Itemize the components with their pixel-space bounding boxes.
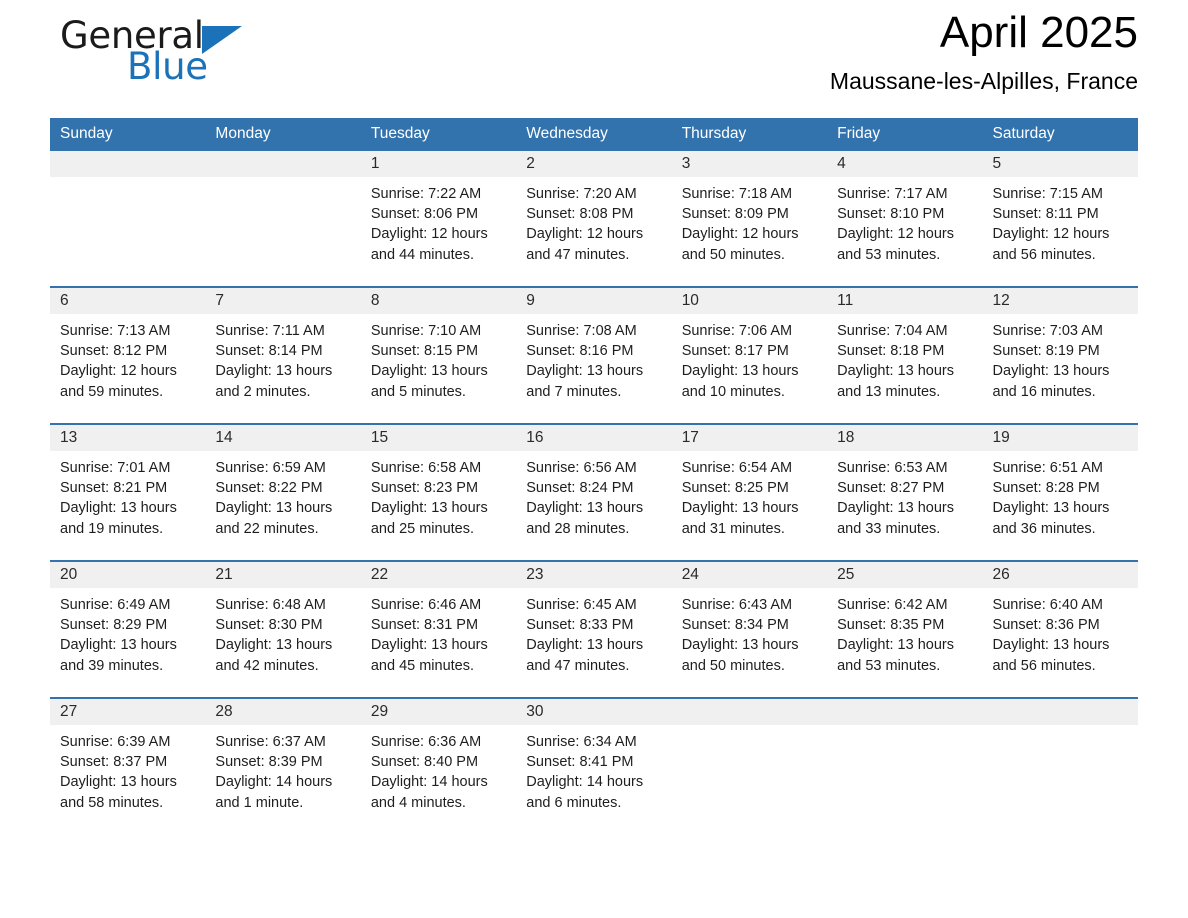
sunrise-text: Sunrise: 6:40 AM xyxy=(993,595,1130,615)
day-cell-content: 6Sunrise: 7:13 AMSunset: 8:12 PMDaylight… xyxy=(50,288,205,423)
calendar-day-cell[interactable]: 29Sunrise: 6:36 AMSunset: 8:40 PMDayligh… xyxy=(361,698,516,834)
logo-text-blue: Blue xyxy=(127,47,208,87)
calendar-day-cell[interactable]: 17Sunrise: 6:54 AMSunset: 8:25 PMDayligh… xyxy=(672,424,827,561)
day-cell-content: 8Sunrise: 7:10 AMSunset: 8:15 PMDaylight… xyxy=(361,288,516,423)
day-cell-content: 26Sunrise: 6:40 AMSunset: 8:36 PMDayligh… xyxy=(983,562,1138,697)
day-number: 26 xyxy=(983,562,1138,588)
sunset-text: Sunset: 8:25 PM xyxy=(682,478,819,498)
day-cell-content: 19Sunrise: 6:51 AMSunset: 8:28 PMDayligh… xyxy=(983,425,1138,560)
daylight-text: Daylight: 14 hours and 1 minute. xyxy=(215,772,352,812)
day-details: Sunrise: 6:34 AMSunset: 8:41 PMDaylight:… xyxy=(516,725,671,813)
day-details: Sunrise: 7:18 AMSunset: 8:09 PMDaylight:… xyxy=(672,177,827,265)
day-cell-content: 17Sunrise: 6:54 AMSunset: 8:25 PMDayligh… xyxy=(672,425,827,560)
calendar-week-row: 1Sunrise: 7:22 AMSunset: 8:06 PMDaylight… xyxy=(50,151,1138,287)
day-details: Sunrise: 6:42 AMSunset: 8:35 PMDaylight:… xyxy=(827,588,982,676)
daylight-text: Daylight: 13 hours and 56 minutes. xyxy=(993,635,1130,675)
sunrise-text: Sunrise: 6:46 AM xyxy=(371,595,508,615)
day-details: Sunrise: 6:59 AMSunset: 8:22 PMDaylight:… xyxy=(205,451,360,539)
sunset-text: Sunset: 8:30 PM xyxy=(215,615,352,635)
calendar-day-cell[interactable]: 19Sunrise: 6:51 AMSunset: 8:28 PMDayligh… xyxy=(983,424,1138,561)
day-cell-content: 7Sunrise: 7:11 AMSunset: 8:14 PMDaylight… xyxy=(205,288,360,423)
sunset-text: Sunset: 8:33 PM xyxy=(526,615,663,635)
daylight-text: Daylight: 13 hours and 28 minutes. xyxy=(526,498,663,538)
sunrise-text: Sunrise: 6:48 AM xyxy=(215,595,352,615)
daylight-text: Daylight: 13 hours and 2 minutes. xyxy=(215,361,352,401)
calendar-day-cell[interactable]: 20Sunrise: 6:49 AMSunset: 8:29 PMDayligh… xyxy=(50,561,205,698)
day-details: Sunrise: 7:20 AMSunset: 8:08 PMDaylight:… xyxy=(516,177,671,265)
day-number: 18 xyxy=(827,425,982,451)
calendar-day-cell[interactable]: 7Sunrise: 7:11 AMSunset: 8:14 PMDaylight… xyxy=(205,287,360,424)
sunrise-sunset-calendar: Sunday Monday Tuesday Wednesday Thursday… xyxy=(50,118,1138,834)
daylight-text: Daylight: 13 hours and 16 minutes. xyxy=(993,361,1130,401)
sunrise-text: Sunrise: 7:04 AM xyxy=(837,321,974,341)
day-cell-content xyxy=(983,699,1138,834)
sunset-text: Sunset: 8:39 PM xyxy=(215,752,352,772)
daylight-text: Daylight: 13 hours and 19 minutes. xyxy=(60,498,197,538)
sunrise-text: Sunrise: 6:58 AM xyxy=(371,458,508,478)
sunrise-text: Sunrise: 6:59 AM xyxy=(215,458,352,478)
day-cell-content: 16Sunrise: 6:56 AMSunset: 8:24 PMDayligh… xyxy=(516,425,671,560)
weekday-header-sunday: Sunday xyxy=(50,118,205,151)
title-block: April 2025 Maussane-les-Alpilles, France xyxy=(830,0,1138,96)
daylight-text: Daylight: 13 hours and 39 minutes. xyxy=(60,635,197,675)
day-details: Sunrise: 7:22 AMSunset: 8:06 PMDaylight:… xyxy=(361,177,516,265)
page-header: General Blue April 2025 Maussane-les-Alp… xyxy=(50,0,1138,110)
sunset-text: Sunset: 8:10 PM xyxy=(837,204,974,224)
day-details: Sunrise: 6:48 AMSunset: 8:30 PMDaylight:… xyxy=(205,588,360,676)
logo-triangle-icon xyxy=(202,26,242,54)
day-details: Sunrise: 6:53 AMSunset: 8:27 PMDaylight:… xyxy=(827,451,982,539)
day-number: 28 xyxy=(205,699,360,725)
calendar-day-cell[interactable]: 12Sunrise: 7:03 AMSunset: 8:19 PMDayligh… xyxy=(983,287,1138,424)
calendar-day-cell xyxy=(50,151,205,287)
day-details: Sunrise: 7:11 AMSunset: 8:14 PMDaylight:… xyxy=(205,314,360,402)
day-details: Sunrise: 6:45 AMSunset: 8:33 PMDaylight:… xyxy=(516,588,671,676)
day-cell-content: 10Sunrise: 7:06 AMSunset: 8:17 PMDayligh… xyxy=(672,288,827,423)
calendar-week-row: 6Sunrise: 7:13 AMSunset: 8:12 PMDaylight… xyxy=(50,287,1138,424)
sunset-text: Sunset: 8:06 PM xyxy=(371,204,508,224)
day-details: Sunrise: 6:46 AMSunset: 8:31 PMDaylight:… xyxy=(361,588,516,676)
day-cell-content: 15Sunrise: 6:58 AMSunset: 8:23 PMDayligh… xyxy=(361,425,516,560)
day-details: Sunrise: 6:56 AMSunset: 8:24 PMDaylight:… xyxy=(516,451,671,539)
calendar-day-cell[interactable]: 21Sunrise: 6:48 AMSunset: 8:30 PMDayligh… xyxy=(205,561,360,698)
day-cell-content: 24Sunrise: 6:43 AMSunset: 8:34 PMDayligh… xyxy=(672,562,827,697)
day-details: Sunrise: 7:10 AMSunset: 8:15 PMDaylight:… xyxy=(361,314,516,402)
day-number: 16 xyxy=(516,425,671,451)
day-number xyxy=(827,699,982,725)
daylight-text: Daylight: 13 hours and 31 minutes. xyxy=(682,498,819,538)
sunset-text: Sunset: 8:40 PM xyxy=(371,752,508,772)
day-number xyxy=(205,151,360,177)
weekday-header-saturday: Saturday xyxy=(983,118,1138,151)
calendar-day-cell xyxy=(672,698,827,834)
sunrise-text: Sunrise: 7:13 AM xyxy=(60,321,197,341)
general-blue-logo: General Blue xyxy=(50,8,350,94)
daylight-text: Daylight: 13 hours and 10 minutes. xyxy=(682,361,819,401)
day-cell-content: 30Sunrise: 6:34 AMSunset: 8:41 PMDayligh… xyxy=(516,699,671,834)
day-details: Sunrise: 6:54 AMSunset: 8:25 PMDaylight:… xyxy=(672,451,827,539)
weekday-header-monday: Monday xyxy=(205,118,360,151)
day-cell-content: 21Sunrise: 6:48 AMSunset: 8:30 PMDayligh… xyxy=(205,562,360,697)
daylight-text: Daylight: 13 hours and 25 minutes. xyxy=(371,498,508,538)
day-cell-content: 29Sunrise: 6:36 AMSunset: 8:40 PMDayligh… xyxy=(361,699,516,834)
sunrise-text: Sunrise: 6:53 AM xyxy=(837,458,974,478)
day-number: 21 xyxy=(205,562,360,588)
calendar-week-row: 20Sunrise: 6:49 AMSunset: 8:29 PMDayligh… xyxy=(50,561,1138,698)
calendar-day-cell[interactable]: 6Sunrise: 7:13 AMSunset: 8:12 PMDaylight… xyxy=(50,287,205,424)
sunrise-text: Sunrise: 6:54 AM xyxy=(682,458,819,478)
day-number: 13 xyxy=(50,425,205,451)
day-details: Sunrise: 6:37 AMSunset: 8:39 PMDaylight:… xyxy=(205,725,360,813)
page-title: April 2025 xyxy=(830,6,1138,60)
daylight-text: Daylight: 13 hours and 13 minutes. xyxy=(837,361,974,401)
day-cell-content: 3Sunrise: 7:18 AMSunset: 8:09 PMDaylight… xyxy=(672,151,827,286)
day-cell-content xyxy=(827,699,982,834)
day-number: 1 xyxy=(361,151,516,177)
daylight-text: Daylight: 12 hours and 53 minutes. xyxy=(837,224,974,264)
sunset-text: Sunset: 8:16 PM xyxy=(526,341,663,361)
sunset-text: Sunset: 8:27 PM xyxy=(837,478,974,498)
sunrise-text: Sunrise: 7:17 AM xyxy=(837,184,974,204)
day-number xyxy=(983,699,1138,725)
day-number: 19 xyxy=(983,425,1138,451)
day-details: Sunrise: 6:40 AMSunset: 8:36 PMDaylight:… xyxy=(983,588,1138,676)
day-details: Sunrise: 7:06 AMSunset: 8:17 PMDaylight:… xyxy=(672,314,827,402)
sunrise-text: Sunrise: 6:42 AM xyxy=(837,595,974,615)
day-cell-content: 2Sunrise: 7:20 AMSunset: 8:08 PMDaylight… xyxy=(516,151,671,286)
calendar-body: 1Sunrise: 7:22 AMSunset: 8:06 PMDaylight… xyxy=(50,151,1138,834)
sunrise-text: Sunrise: 7:08 AM xyxy=(526,321,663,341)
day-details: Sunrise: 7:08 AMSunset: 8:16 PMDaylight:… xyxy=(516,314,671,402)
sunset-text: Sunset: 8:14 PM xyxy=(215,341,352,361)
calendar-day-cell[interactable]: 26Sunrise: 6:40 AMSunset: 8:36 PMDayligh… xyxy=(983,561,1138,698)
calendar-day-cell[interactable]: 22Sunrise: 6:46 AMSunset: 8:31 PMDayligh… xyxy=(361,561,516,698)
day-cell-content: 11Sunrise: 7:04 AMSunset: 8:18 PMDayligh… xyxy=(827,288,982,423)
day-number: 20 xyxy=(50,562,205,588)
day-cell-content: 4Sunrise: 7:17 AMSunset: 8:10 PMDaylight… xyxy=(827,151,982,286)
calendar-day-cell[interactable]: 30Sunrise: 6:34 AMSunset: 8:41 PMDayligh… xyxy=(516,698,671,834)
weekday-header-tuesday: Tuesday xyxy=(361,118,516,151)
daylight-text: Daylight: 14 hours and 6 minutes. xyxy=(526,772,663,812)
calendar-day-cell[interactable]: 10Sunrise: 7:06 AMSunset: 8:17 PMDayligh… xyxy=(672,287,827,424)
day-cell-content xyxy=(205,151,360,286)
sunset-text: Sunset: 8:11 PM xyxy=(993,204,1130,224)
calendar-day-cell[interactable]: 5Sunrise: 7:15 AMSunset: 8:11 PMDaylight… xyxy=(983,151,1138,287)
day-details: Sunrise: 6:58 AMSunset: 8:23 PMDaylight:… xyxy=(361,451,516,539)
sunset-text: Sunset: 8:08 PM xyxy=(526,204,663,224)
day-number: 4 xyxy=(827,151,982,177)
day-details: Sunrise: 7:04 AMSunset: 8:18 PMDaylight:… xyxy=(827,314,982,402)
sunrise-text: Sunrise: 6:51 AM xyxy=(993,458,1130,478)
day-cell-content: 18Sunrise: 6:53 AMSunset: 8:27 PMDayligh… xyxy=(827,425,982,560)
daylight-text: Daylight: 13 hours and 45 minutes. xyxy=(371,635,508,675)
sunset-text: Sunset: 8:15 PM xyxy=(371,341,508,361)
sunset-text: Sunset: 8:31 PM xyxy=(371,615,508,635)
sunset-text: Sunset: 8:37 PM xyxy=(60,752,197,772)
day-number xyxy=(672,699,827,725)
day-details: Sunrise: 6:36 AMSunset: 8:40 PMDaylight:… xyxy=(361,725,516,813)
sunset-text: Sunset: 8:12 PM xyxy=(60,341,197,361)
sunset-text: Sunset: 8:41 PM xyxy=(526,752,663,772)
daylight-text: Daylight: 12 hours and 56 minutes. xyxy=(993,224,1130,264)
sunset-text: Sunset: 8:24 PM xyxy=(526,478,663,498)
day-cell-content xyxy=(50,151,205,286)
day-details: Sunrise: 7:01 AMSunset: 8:21 PMDaylight:… xyxy=(50,451,205,539)
sunset-text: Sunset: 8:19 PM xyxy=(993,341,1130,361)
day-number: 25 xyxy=(827,562,982,588)
day-number: 5 xyxy=(983,151,1138,177)
sunrise-text: Sunrise: 7:15 AM xyxy=(993,184,1130,204)
calendar-day-cell[interactable]: 25Sunrise: 6:42 AMSunset: 8:35 PMDayligh… xyxy=(827,561,982,698)
day-details: Sunrise: 6:49 AMSunset: 8:29 PMDaylight:… xyxy=(50,588,205,676)
sunrise-text: Sunrise: 7:10 AM xyxy=(371,321,508,341)
day-number: 10 xyxy=(672,288,827,314)
sunrise-text: Sunrise: 7:01 AM xyxy=(60,458,197,478)
day-cell-content: 28Sunrise: 6:37 AMSunset: 8:39 PMDayligh… xyxy=(205,699,360,834)
daylight-text: Daylight: 13 hours and 58 minutes. xyxy=(60,772,197,812)
sunrise-text: Sunrise: 6:37 AM xyxy=(215,732,352,752)
day-cell-content: 22Sunrise: 6:46 AMSunset: 8:31 PMDayligh… xyxy=(361,562,516,697)
daylight-text: Daylight: 13 hours and 33 minutes. xyxy=(837,498,974,538)
day-number: 6 xyxy=(50,288,205,314)
daylight-text: Daylight: 13 hours and 50 minutes. xyxy=(682,635,819,675)
weekday-header-wednesday: Wednesday xyxy=(516,118,671,151)
page-subtitle: Maussane-les-Alpilles, France xyxy=(830,66,1138,96)
calendar-day-cell[interactable]: 1Sunrise: 7:22 AMSunset: 8:06 PMDaylight… xyxy=(361,151,516,287)
day-details: Sunrise: 7:03 AMSunset: 8:19 PMDaylight:… xyxy=(983,314,1138,402)
day-number: 2 xyxy=(516,151,671,177)
daylight-text: Daylight: 13 hours and 47 minutes. xyxy=(526,635,663,675)
day-number: 7 xyxy=(205,288,360,314)
sunrise-text: Sunrise: 6:56 AM xyxy=(526,458,663,478)
day-number: 15 xyxy=(361,425,516,451)
calendar-day-cell[interactable]: 9Sunrise: 7:08 AMSunset: 8:16 PMDaylight… xyxy=(516,287,671,424)
day-details: Sunrise: 6:51 AMSunset: 8:28 PMDaylight:… xyxy=(983,451,1138,539)
day-number: 17 xyxy=(672,425,827,451)
calendar-day-cell[interactable]: 2Sunrise: 7:20 AMSunset: 8:08 PMDaylight… xyxy=(516,151,671,287)
day-cell-content: 23Sunrise: 6:45 AMSunset: 8:33 PMDayligh… xyxy=(516,562,671,697)
daylight-text: Daylight: 13 hours and 7 minutes. xyxy=(526,361,663,401)
calendar-day-cell[interactable]: 13Sunrise: 7:01 AMSunset: 8:21 PMDayligh… xyxy=(50,424,205,561)
sunset-text: Sunset: 8:29 PM xyxy=(60,615,197,635)
daylight-text: Daylight: 13 hours and 36 minutes. xyxy=(993,498,1130,538)
day-number: 3 xyxy=(672,151,827,177)
calendar-day-cell xyxy=(983,698,1138,834)
day-number xyxy=(50,151,205,177)
calendar-day-cell[interactable]: 23Sunrise: 6:45 AMSunset: 8:33 PMDayligh… xyxy=(516,561,671,698)
sunset-text: Sunset: 8:18 PM xyxy=(837,341,974,361)
calendar-week-row: 27Sunrise: 6:39 AMSunset: 8:37 PMDayligh… xyxy=(50,698,1138,834)
day-details: Sunrise: 7:17 AMSunset: 8:10 PMDaylight:… xyxy=(827,177,982,265)
calendar-day-cell[interactable]: 14Sunrise: 6:59 AMSunset: 8:22 PMDayligh… xyxy=(205,424,360,561)
sunrise-text: Sunrise: 6:43 AM xyxy=(682,595,819,615)
daylight-text: Daylight: 12 hours and 44 minutes. xyxy=(371,224,508,264)
day-number: 8 xyxy=(361,288,516,314)
day-cell-content: 14Sunrise: 6:59 AMSunset: 8:22 PMDayligh… xyxy=(205,425,360,560)
sunrise-text: Sunrise: 6:34 AM xyxy=(526,732,663,752)
daylight-text: Daylight: 13 hours and 42 minutes. xyxy=(215,635,352,675)
calendar-day-cell xyxy=(205,151,360,287)
calendar-day-cell[interactable]: 18Sunrise: 6:53 AMSunset: 8:27 PMDayligh… xyxy=(827,424,982,561)
weekday-header-friday: Friday xyxy=(827,118,982,151)
daylight-text: Daylight: 12 hours and 50 minutes. xyxy=(682,224,819,264)
day-number: 14 xyxy=(205,425,360,451)
day-number: 30 xyxy=(516,699,671,725)
calendar-day-cell xyxy=(827,698,982,834)
daylight-text: Daylight: 12 hours and 59 minutes. xyxy=(60,361,197,401)
sunrise-text: Sunrise: 7:03 AM xyxy=(993,321,1130,341)
day-cell-content: 1Sunrise: 7:22 AMSunset: 8:06 PMDaylight… xyxy=(361,151,516,286)
daylight-text: Daylight: 13 hours and 22 minutes. xyxy=(215,498,352,538)
calendar-week-row: 13Sunrise: 7:01 AMSunset: 8:21 PMDayligh… xyxy=(50,424,1138,561)
sunset-text: Sunset: 8:09 PM xyxy=(682,204,819,224)
day-cell-content: 20Sunrise: 6:49 AMSunset: 8:29 PMDayligh… xyxy=(50,562,205,697)
calendar-page: General Blue April 2025 Maussane-les-Alp… xyxy=(0,0,1188,918)
day-details: Sunrise: 6:39 AMSunset: 8:37 PMDaylight:… xyxy=(50,725,205,813)
day-number: 24 xyxy=(672,562,827,588)
day-number: 23 xyxy=(516,562,671,588)
sunrise-text: Sunrise: 7:18 AM xyxy=(682,184,819,204)
day-number: 27 xyxy=(50,699,205,725)
sunrise-text: Sunrise: 6:36 AM xyxy=(371,732,508,752)
daylight-text: Daylight: 12 hours and 47 minutes. xyxy=(526,224,663,264)
day-details: Sunrise: 7:13 AMSunset: 8:12 PMDaylight:… xyxy=(50,314,205,402)
sunset-text: Sunset: 8:35 PM xyxy=(837,615,974,635)
sunrise-text: Sunrise: 7:20 AM xyxy=(526,184,663,204)
sunset-text: Sunset: 8:23 PM xyxy=(371,478,508,498)
day-details: Sunrise: 7:15 AMSunset: 8:11 PMDaylight:… xyxy=(983,177,1138,265)
day-number: 12 xyxy=(983,288,1138,314)
calendar-day-cell[interactable]: 24Sunrise: 6:43 AMSunset: 8:34 PMDayligh… xyxy=(672,561,827,698)
day-cell-content: 9Sunrise: 7:08 AMSunset: 8:16 PMDaylight… xyxy=(516,288,671,423)
calendar-header-row: Sunday Monday Tuesday Wednesday Thursday… xyxy=(50,118,1138,151)
sunset-text: Sunset: 8:17 PM xyxy=(682,341,819,361)
day-cell-content: 13Sunrise: 7:01 AMSunset: 8:21 PMDayligh… xyxy=(50,425,205,560)
day-cell-content xyxy=(672,699,827,834)
daylight-text: Daylight: 13 hours and 53 minutes. xyxy=(837,635,974,675)
weekday-header-thursday: Thursday xyxy=(672,118,827,151)
day-number: 29 xyxy=(361,699,516,725)
sunrise-text: Sunrise: 6:49 AM xyxy=(60,595,197,615)
day-number: 22 xyxy=(361,562,516,588)
sunset-text: Sunset: 8:36 PM xyxy=(993,615,1130,635)
calendar-day-cell[interactable]: 11Sunrise: 7:04 AMSunset: 8:18 PMDayligh… xyxy=(827,287,982,424)
calendar-day-cell[interactable]: 4Sunrise: 7:17 AMSunset: 8:10 PMDaylight… xyxy=(827,151,982,287)
calendar-day-cell[interactable]: 15Sunrise: 6:58 AMSunset: 8:23 PMDayligh… xyxy=(361,424,516,561)
day-number: 9 xyxy=(516,288,671,314)
sunrise-text: Sunrise: 7:22 AM xyxy=(371,184,508,204)
calendar-day-cell[interactable]: 28Sunrise: 6:37 AMSunset: 8:39 PMDayligh… xyxy=(205,698,360,834)
calendar-day-cell[interactable]: 16Sunrise: 6:56 AMSunset: 8:24 PMDayligh… xyxy=(516,424,671,561)
sunrise-text: Sunrise: 7:11 AM xyxy=(215,321,352,341)
day-number: 11 xyxy=(827,288,982,314)
calendar-day-cell[interactable]: 27Sunrise: 6:39 AMSunset: 8:37 PMDayligh… xyxy=(50,698,205,834)
day-cell-content: 5Sunrise: 7:15 AMSunset: 8:11 PMDaylight… xyxy=(983,151,1138,286)
sunrise-text: Sunrise: 6:39 AM xyxy=(60,732,197,752)
sunset-text: Sunset: 8:21 PM xyxy=(60,478,197,498)
day-cell-content: 27Sunrise: 6:39 AMSunset: 8:37 PMDayligh… xyxy=(50,699,205,834)
day-cell-content: 25Sunrise: 6:42 AMSunset: 8:35 PMDayligh… xyxy=(827,562,982,697)
sunset-text: Sunset: 8:28 PM xyxy=(993,478,1130,498)
sunset-text: Sunset: 8:22 PM xyxy=(215,478,352,498)
calendar-day-cell[interactable]: 8Sunrise: 7:10 AMSunset: 8:15 PMDaylight… xyxy=(361,287,516,424)
day-cell-content: 12Sunrise: 7:03 AMSunset: 8:19 PMDayligh… xyxy=(983,288,1138,423)
day-details: Sunrise: 6:43 AMSunset: 8:34 PMDaylight:… xyxy=(672,588,827,676)
daylight-text: Daylight: 13 hours and 5 minutes. xyxy=(371,361,508,401)
sunrise-text: Sunrise: 7:06 AM xyxy=(682,321,819,341)
calendar-day-cell[interactable]: 3Sunrise: 7:18 AMSunset: 8:09 PMDaylight… xyxy=(672,151,827,287)
sunset-text: Sunset: 8:34 PM xyxy=(682,615,819,635)
daylight-text: Daylight: 14 hours and 4 minutes. xyxy=(371,772,508,812)
sunrise-text: Sunrise: 6:45 AM xyxy=(526,595,663,615)
